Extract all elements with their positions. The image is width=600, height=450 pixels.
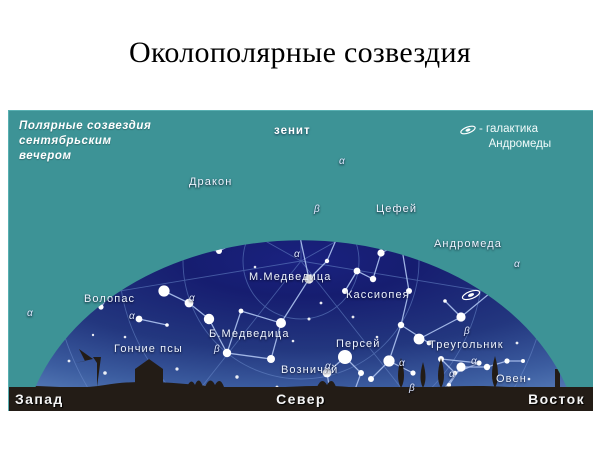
slide-root: Околополярные созвездия — [0, 0, 600, 450]
zenith-marker — [296, 119, 306, 129]
cardinal-bar — [9, 387, 593, 411]
star-map: Полярные созвездия сентябрьским вечером … — [8, 110, 593, 411]
galaxy-spiral-icon — [459, 124, 477, 136]
star-map-canvas — [9, 111, 593, 411]
page-title: Околополярные созвездия — [0, 36, 600, 70]
